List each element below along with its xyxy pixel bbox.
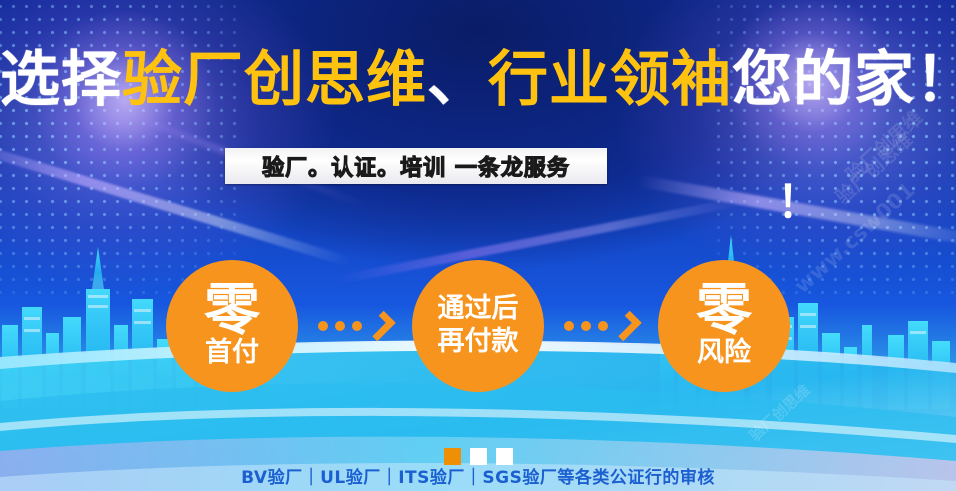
title-segment-4: 行业领袖 [488,45,732,115]
title-segment-3: 、 [427,45,488,115]
exclamation-mark: ！ [777,181,821,225]
step-line-1: 通过后 [438,293,519,325]
step-circle-pay-after-pass[interactable]: 通过后 再付款 [412,260,544,392]
step-small-text: 首付 [205,339,259,367]
arrow-right-icon-2 [564,313,638,339]
step-big-text: 零 [696,284,752,337]
chevron-right-icon [611,310,641,340]
subtitle-band: 验厂。认证。培训 一条龙服务 [225,148,607,184]
arrow-dot [581,321,591,331]
chevron-right-icon [365,310,395,340]
title-segment-2: 验厂创思维 [122,45,427,115]
arrow-dot [352,321,362,331]
step-circle-zero-downpayment[interactable]: 零 首付 [166,260,298,392]
subtitle-text: 验厂。认证。培训 一条龙服务 [262,150,570,182]
banner-title: 选择验厂创思维、行业领袖您的家！ [0,50,956,110]
promo-banner: 选择验厂创思维、行业领袖您的家！ 验厂。认证。培训 一条龙服务 ！ 零 首付 通… [0,0,956,491]
arrow-dot [335,321,345,331]
step-big-text: 零 [204,284,260,337]
bottom-caption: BV验厂｜UL验厂｜ITS验厂｜SGS验厂等各类公证行的审核 [0,463,956,488]
step-small-text: 风险 [697,339,751,367]
steps-row: 零 首付 通过后 再付款 零 风险 [0,258,956,393]
arrow-dot [598,321,608,331]
title-segment-5: 您的家！ [732,45,956,115]
arrow-dot [564,321,574,331]
arrow-dot [318,321,328,331]
title-segment-1: 选择 [0,45,122,115]
step-circle-zero-risk[interactable]: 零 风险 [658,260,790,392]
step-line-2: 再付款 [438,326,519,358]
arrow-right-icon-1 [318,313,392,339]
